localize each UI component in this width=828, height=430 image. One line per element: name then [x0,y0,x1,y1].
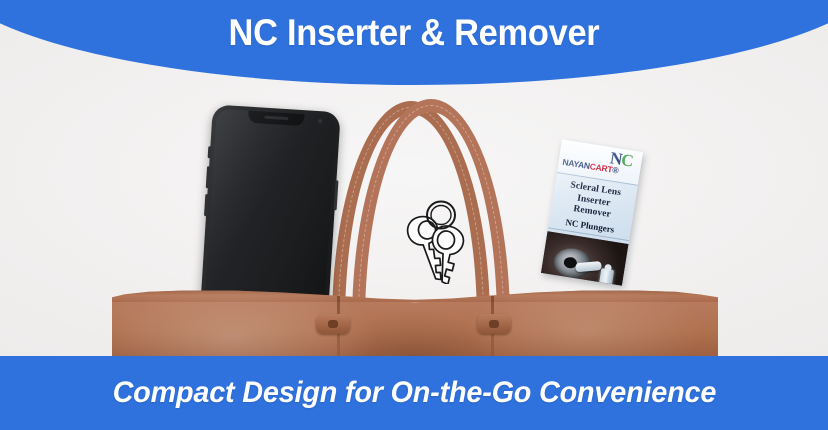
phone-screen-glare [204,109,336,313]
plunger-tool-tip [575,261,602,272]
brand-name-part2: CART [589,161,613,174]
smartphone [200,104,341,317]
phone-volume-down-button [204,194,208,216]
product-package: NC NAYANCART® Scleral Lens Inserter Remo… [541,139,643,285]
bag-strap-loop-right [477,314,511,334]
bag-strap-loop-left [316,314,350,334]
bag-strap-loop-right-hole [489,320,499,328]
phone-mute-switch [208,146,212,158]
bag-strap-loop-left-hole [328,320,338,328]
phone-volume-up-button [206,166,210,188]
plunger-device [598,268,615,286]
brand-name-part1: NAYAN [562,157,591,171]
phone-power-button [334,180,339,210]
tagline: Compact Design for On-the-Go Convenience [112,376,716,410]
keys-icon [398,196,474,284]
brand-registered-mark: ® [612,165,620,176]
nc-logo-letter-c: C [620,150,634,171]
promo-banner-image: NC NAYANCART® Scleral Lens Inserter Remo… [0,0,828,430]
package-product-photo [541,231,629,286]
phone-screen [204,109,336,313]
page-title: NC Inserter & Remover [0,12,828,54]
bottom-banner: Compact Design for On-the-Go Convenience [0,356,828,430]
